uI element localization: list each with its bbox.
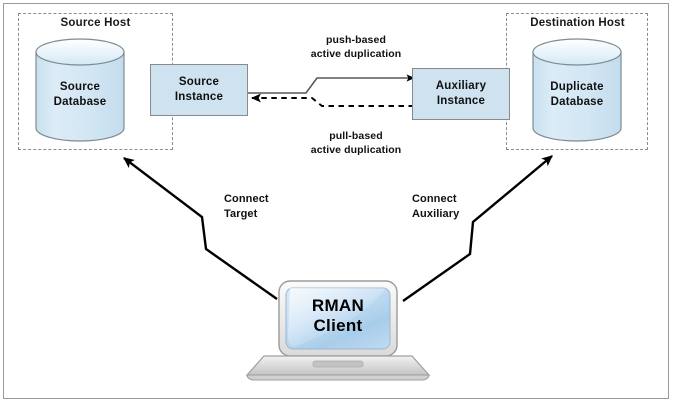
source-host-label: Source Host <box>18 17 173 29</box>
push-based-label: push-based active duplication <box>266 33 446 62</box>
rman-client-line1: RMAN <box>312 296 364 315</box>
source-database-line2: Database <box>54 96 107 108</box>
rman-client-line2: Client <box>313 316 362 335</box>
auxiliary-instance-box[interactable]: Auxiliary Instance <box>412 68 510 120</box>
duplicate-database-line1: Duplicate <box>550 81 604 93</box>
duplicate-database-label: Duplicate Database <box>533 80 621 110</box>
destination-host-label: Destination Host <box>500 17 655 29</box>
source-instance-line1: Source <box>179 75 219 90</box>
push-based-line2: active duplication <box>311 48 402 60</box>
source-instance-box[interactable]: Source Instance <box>150 64 248 116</box>
connect-auxiliary-line2: Auxiliary <box>412 208 459 220</box>
duplicate-database-line2: Database <box>551 96 604 108</box>
diagram-canvas: Source Host Destination Host <box>0 0 675 404</box>
pull-based-line1: pull-based <box>329 130 383 142</box>
connect-auxiliary-line1: Connect <box>412 193 457 205</box>
connect-target-line2: Target <box>224 208 257 220</box>
connect-target-label: Connect Target <box>224 192 269 222</box>
rman-client-label: RMAN Client <box>286 296 390 335</box>
source-database-line1: Source <box>60 81 100 93</box>
connect-target-line1: Connect <box>224 193 269 205</box>
pull-based-label: pull-based active duplication <box>266 129 446 158</box>
auxiliary-instance-line2: Instance <box>437 94 485 109</box>
push-based-line1: push-based <box>326 34 386 46</box>
pull-based-line2: active duplication <box>311 144 402 156</box>
auxiliary-instance-line1: Auxiliary <box>436 79 486 94</box>
connect-auxiliary-label: Connect Auxiliary <box>412 192 459 222</box>
source-instance-line2: Instance <box>175 90 223 105</box>
source-database-label: Source Database <box>36 80 124 110</box>
